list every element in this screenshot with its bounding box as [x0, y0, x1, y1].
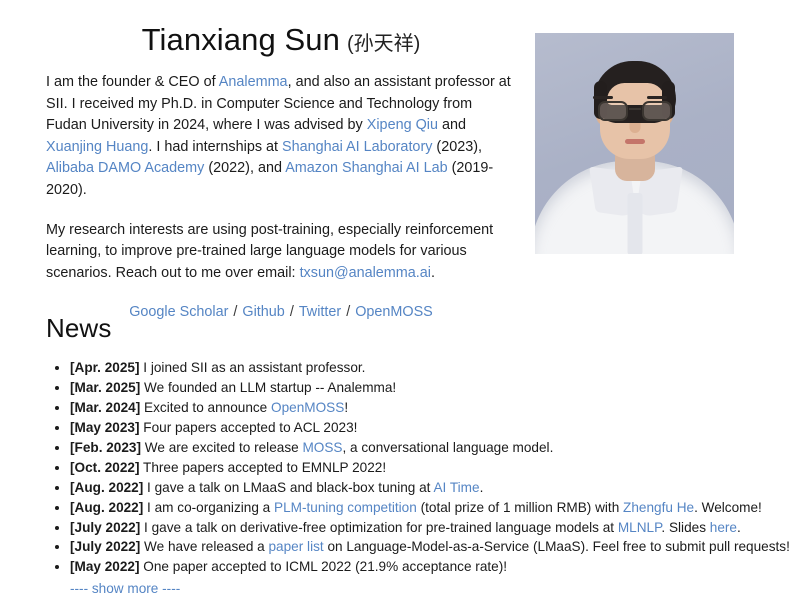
- news-item-date: [July 2022]: [70, 520, 140, 535]
- news-item: [May 2022] One paper accepted to ICML 20…: [70, 557, 776, 576]
- news-item-date: [Aug. 2022]: [70, 500, 143, 515]
- bio-paragraph-1-link-7[interactable]: Shanghai AI Laboratory: [282, 139, 432, 155]
- news-item-6-text-0: I gave a talk on LMaaS and black-box tun…: [143, 480, 433, 495]
- bio-paragraph-2: My research interests are using post-tra…: [46, 220, 516, 285]
- news-section: News [Apr. 2025] I joined SII as an assi…: [46, 313, 776, 598]
- news-item-4-text-2: , a conversational language model.: [343, 440, 554, 455]
- portrait-lens-left: [598, 101, 628, 121]
- portrait-mouth: [625, 139, 645, 144]
- name-english: Tianxiang Sun: [142, 22, 340, 57]
- news-item-4-link-1[interactable]: MOSS: [302, 440, 342, 455]
- news-item-9-link-1[interactable]: paper list: [269, 539, 324, 554]
- bio-paragraph-1-link-1[interactable]: Analemma: [219, 74, 288, 90]
- bio-paragraph-1-link-9[interactable]: Alibaba DAMO Academy: [46, 160, 204, 176]
- portrait-lens-right: [642, 101, 672, 121]
- news-item-2-text-2: !: [344, 400, 348, 415]
- bio-paragraph-1-text-8: (2023),: [432, 139, 482, 155]
- news-item-date: [July 2022]: [70, 539, 140, 554]
- news-item-date: [Mar. 2025]: [70, 380, 140, 395]
- news-item-2-text-0: Excited to announce: [140, 400, 271, 415]
- bio-paragraph-1-text-6: . I had internships at: [148, 139, 282, 155]
- news-item-8-link-1[interactable]: MLNLP: [618, 520, 662, 535]
- news-item: [Aug. 2022] I gave a talk on LMaaS and b…: [70, 478, 776, 497]
- news-item-8-text-0: I gave a talk on derivative-free optimiz…: [140, 520, 618, 535]
- bio-paragraph-1-link-11[interactable]: Amazon Shanghai AI Lab: [285, 160, 447, 176]
- news-item-7-text-2: (total prize of 1 million RMB) with: [417, 500, 623, 515]
- news-item: [Oct. 2022] Three papers accepted to EMN…: [70, 458, 776, 477]
- news-item-8-text-4: .: [737, 520, 741, 535]
- news-item: [Feb. 2023] We are excited to release MO…: [70, 438, 776, 457]
- news-item-date: [Aug. 2022]: [70, 480, 143, 495]
- news-list: [Apr. 2025] I joined SII as an assistant…: [46, 358, 776, 577]
- news-item-2-link-1[interactable]: OpenMOSS: [271, 400, 344, 415]
- bio-paragraph-1-text-4: and: [438, 117, 466, 133]
- news-item-date: [Apr. 2025]: [70, 360, 140, 375]
- news-item-1-text-0: We founded an LLM startup -- Analemma!: [140, 380, 396, 395]
- news-item: [Mar. 2024] Excited to announce OpenMOSS…: [70, 398, 776, 417]
- portrait-shirt-placket: [627, 193, 642, 254]
- news-item-5-text-0: Three papers accepted to EMNLP 2022!: [140, 460, 387, 475]
- news-item-9-text-0: We have released a: [140, 539, 268, 554]
- news-item-0-text-0: I joined SII as an assistant professor.: [140, 360, 366, 375]
- news-item-7-link-3[interactable]: Zhengfu He: [623, 500, 694, 515]
- news-heading: News: [46, 313, 776, 344]
- news-item-date: [Mar. 2024]: [70, 400, 140, 415]
- bio-paragraph-2-link-1[interactable]: txsun@analemma.ai: [300, 265, 431, 281]
- name-chinese: (孙天祥): [347, 33, 420, 55]
- portrait-glasses-bridge: [629, 108, 641, 110]
- news-item: [Mar. 2025] We founded an LLM startup --…: [70, 378, 776, 397]
- news-item-date: [May 2023]: [70, 420, 140, 435]
- bio-paragraph-1-text-10: (2022), and: [204, 160, 285, 176]
- news-item: [May 2023] Four papers accepted to ACL 2…: [70, 418, 776, 437]
- news-item-6-link-1[interactable]: AI Time: [433, 480, 479, 495]
- news-item-7-link-1[interactable]: PLM-tuning competition: [274, 500, 417, 515]
- news-item: [Apr. 2025] I joined SII as an assistant…: [70, 358, 776, 377]
- news-item-9-text-2: on Language-Model-as-a-Service (LMaaS). …: [324, 539, 790, 554]
- news-item-4-text-0: We are excited to release: [141, 440, 302, 455]
- portrait-eyebrow-right: [647, 96, 667, 99]
- news-item-date: [May 2022]: [70, 559, 140, 574]
- bio-paragraph-1-text-0: I am the founder & CEO of: [46, 74, 219, 90]
- news-item-7-text-0: I am co-organizing a: [143, 500, 274, 515]
- page-title: Tianxiang Sun(孙天祥): [46, 22, 516, 58]
- portrait-eyebrow-left: [593, 96, 613, 99]
- news-item: [Aug. 2022] I am co-organizing a PLM-tun…: [70, 498, 776, 517]
- news-item-date: [Oct. 2022]: [70, 460, 140, 475]
- bio-paragraph-1-link-5[interactable]: Xuanjing Huang: [46, 139, 148, 155]
- news-item-6-text-2: .: [480, 480, 484, 495]
- news-item-10-text-0: One paper accepted to ICML 2022 (21.9% a…: [140, 559, 508, 574]
- bio-paragraph-1: I am the founder & CEO of Analemma, and …: [46, 72, 516, 202]
- header: Tianxiang Sun(孙天祥) I am the founder & CE…: [46, 22, 516, 320]
- news-item-3-text-0: Four papers accepted to ACL 2023!: [140, 420, 358, 435]
- news-item-7-text-4: . Welcome!: [694, 500, 762, 515]
- show-more-link[interactable]: ---- show more ----: [70, 581, 180, 596]
- glasses-icon: [596, 101, 674, 121]
- news-item-8-text-2: . Slides: [661, 520, 709, 535]
- news-item: [July 2022] We have released a paper lis…: [70, 537, 776, 556]
- news-item: [July 2022] I gave a talk on derivative-…: [70, 518, 776, 537]
- portrait-photo: [535, 33, 734, 254]
- news-item-date: [Feb. 2023]: [70, 440, 141, 455]
- bio-paragraph-2-text-2: .: [431, 265, 435, 281]
- bio-paragraph-1-link-3[interactable]: Xipeng Qiu: [367, 117, 438, 133]
- profile-page: Tianxiang Sun(孙天祥) I am the founder & CE…: [0, 0, 800, 577]
- news-item-8-link-3[interactable]: here: [710, 520, 737, 535]
